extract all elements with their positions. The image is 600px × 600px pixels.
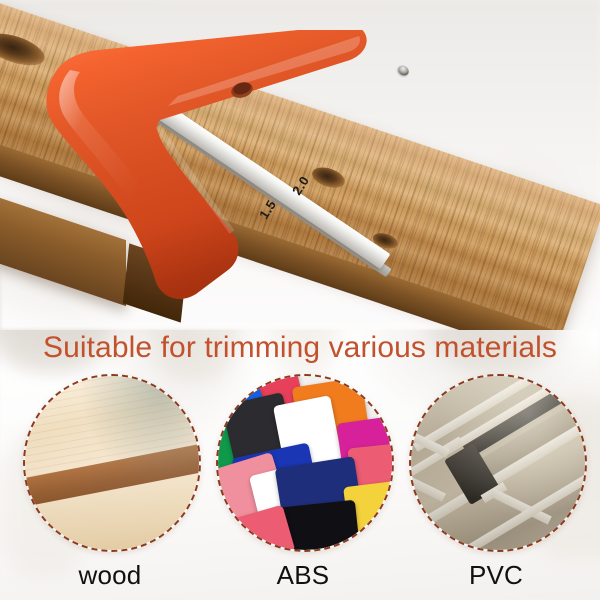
product-marketing-image: 1.5 2.0 — [0, 0, 600, 600]
handle-shadow-overlay — [46, 30, 366, 299]
material-item-abs: ABS — [216, 374, 390, 592]
material-label-pvc: PVC — [409, 560, 583, 590]
abs-circle — [216, 374, 394, 552]
wood-circle — [23, 374, 201, 552]
material-label-abs: ABS — [216, 560, 390, 590]
pvc-circle — [409, 374, 587, 552]
product-photo: 1.5 2.0 — [0, 0, 600, 330]
page-title: Suitable for trimming various materials — [0, 331, 600, 365]
pvc-circle-shading — [411, 376, 585, 550]
wood-circle-shading — [25, 376, 199, 550]
material-circles: wood — [0, 368, 600, 600]
material-label-wood: wood — [23, 560, 197, 590]
material-item-pvc: PVC — [409, 374, 583, 592]
material-item-wood: wood — [23, 374, 197, 592]
tool-handle — [18, 30, 388, 305]
